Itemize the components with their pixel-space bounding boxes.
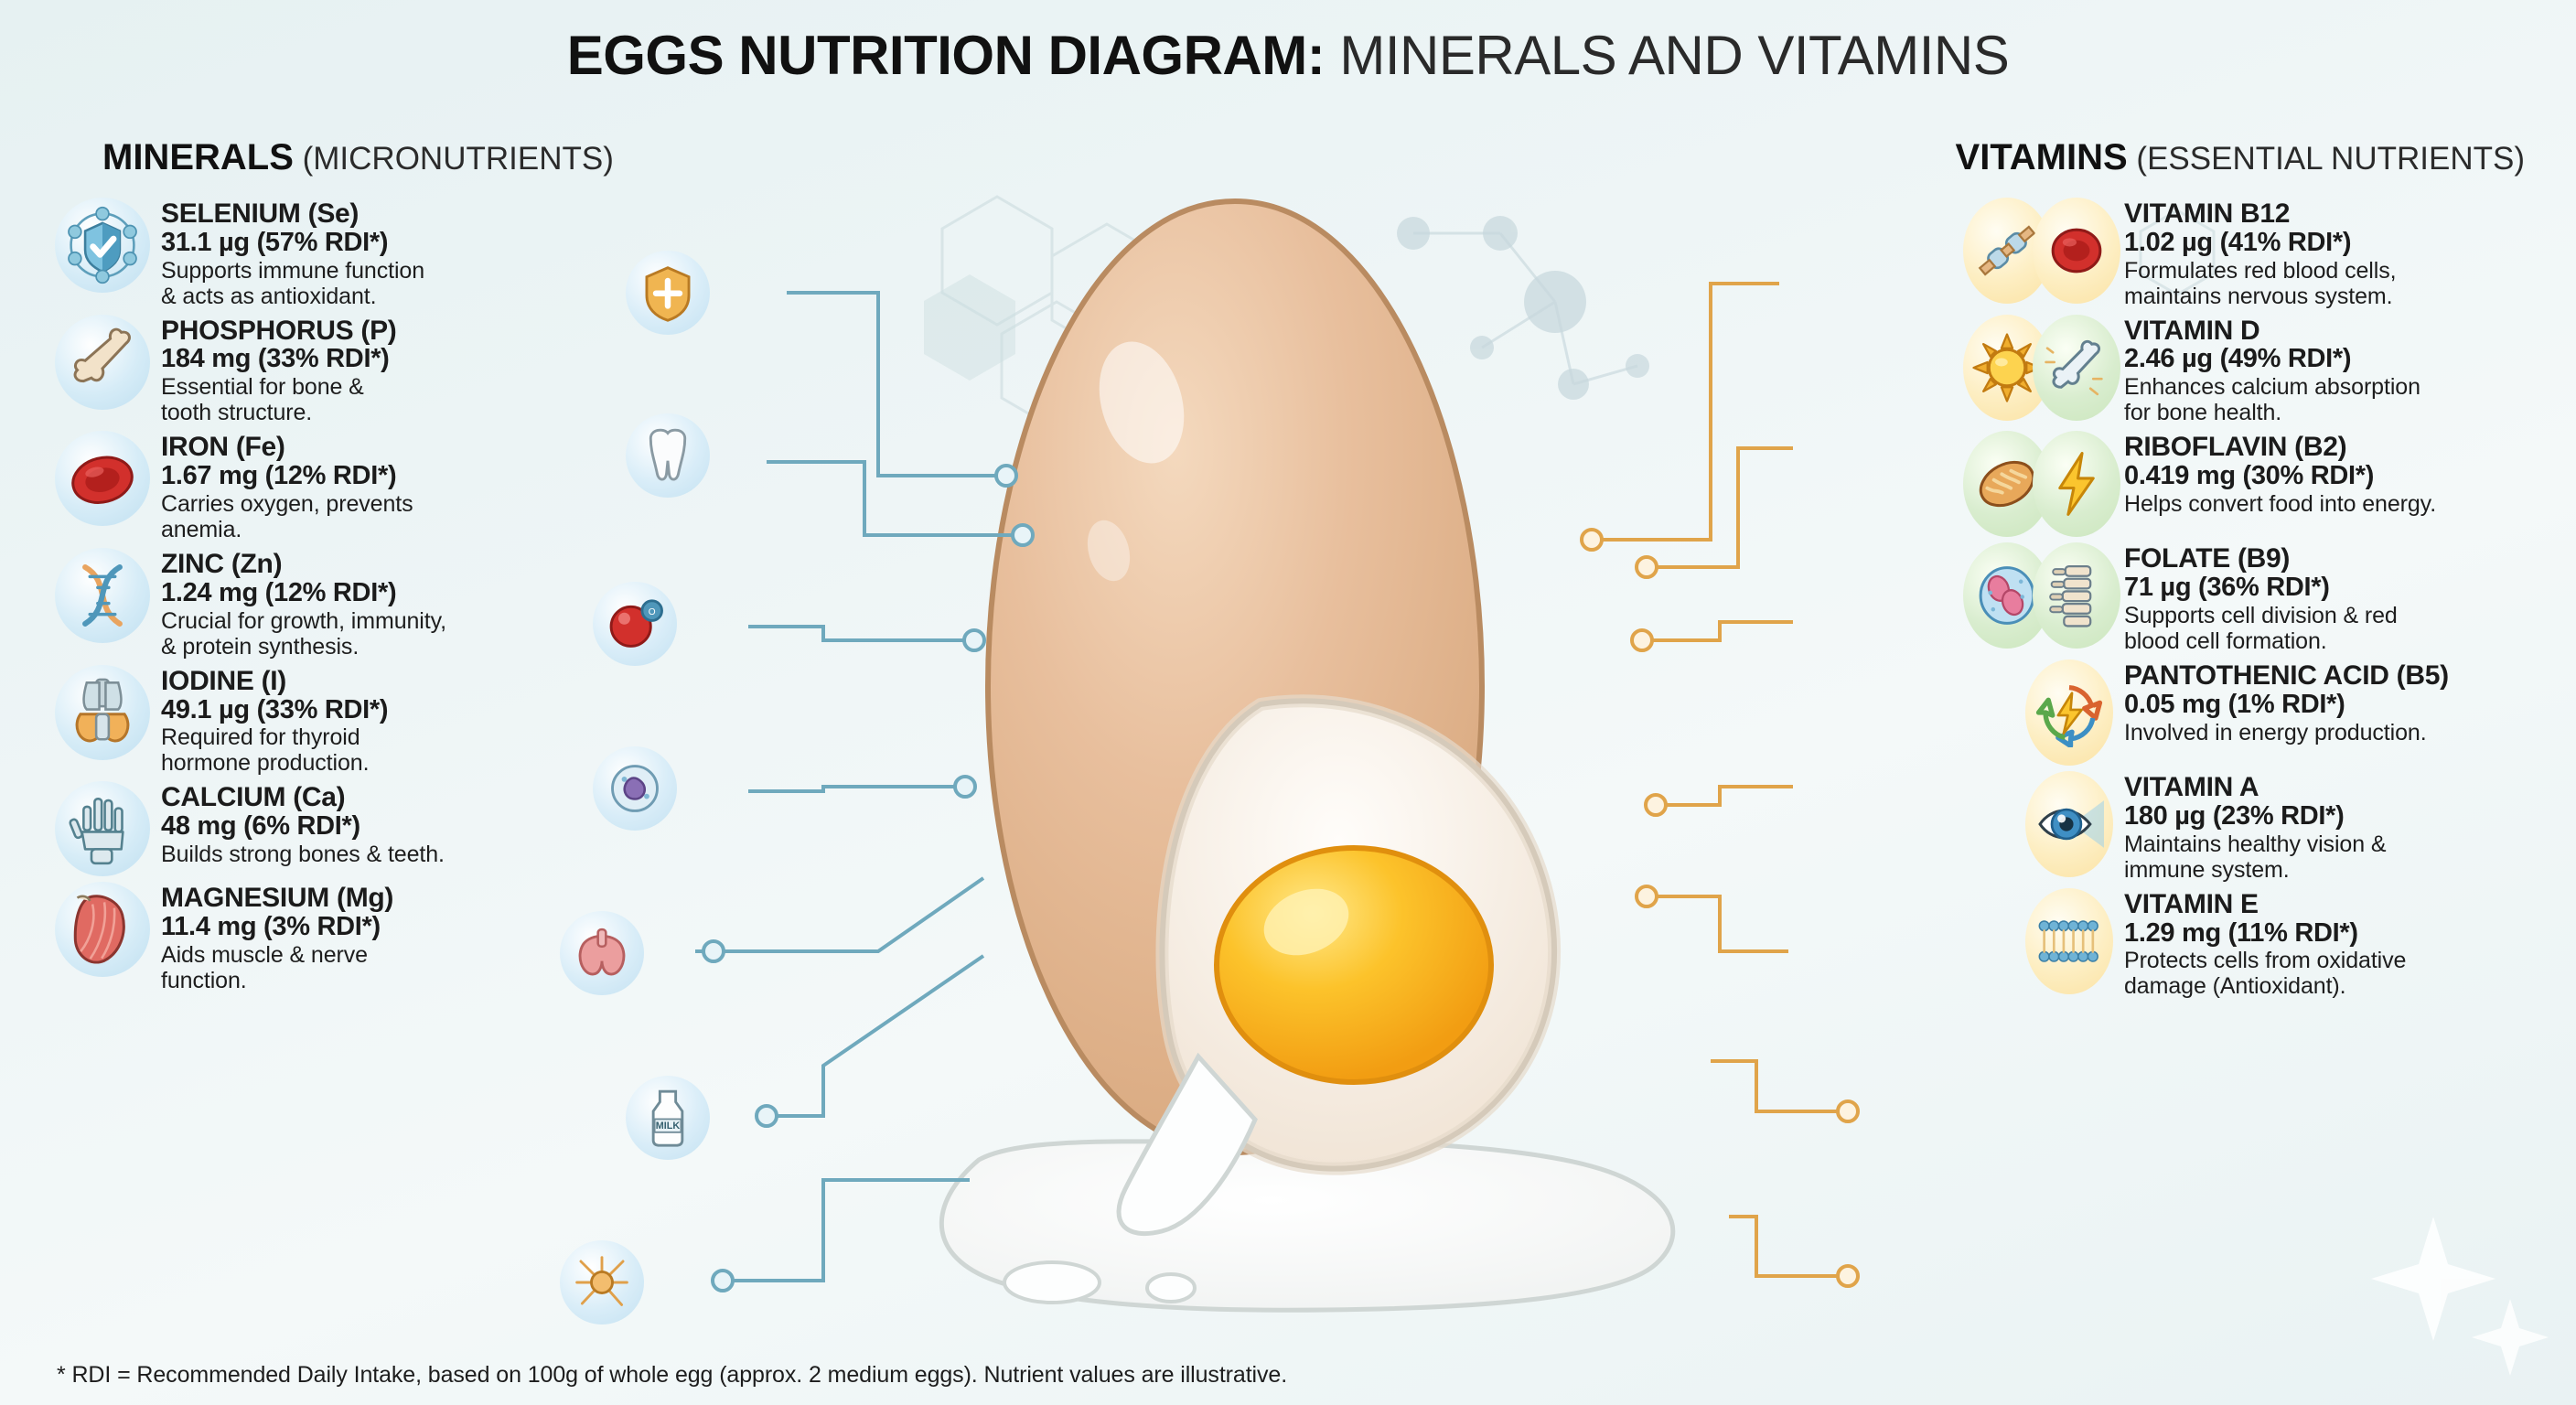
list-item[interactable]: ZINC (Zn) 1.24 mg (12% RDI*) Crucial for… bbox=[55, 548, 640, 660]
nutrient-value: 1.67 mg (12% RDI*) bbox=[161, 462, 640, 491]
nutrient-name: SELENIUM (Se) bbox=[161, 199, 640, 229]
list-item[interactable]: IODINE (I) 49.1 µg (33% RDI*) Required f… bbox=[55, 665, 640, 777]
nutrient-value: 1.02 µg (41% RDI*) bbox=[2124, 229, 2549, 258]
list-item[interactable]: MAGNESIUM (Mg) 11.4 mg (3% RDI*) Aids mu… bbox=[55, 882, 640, 993]
nutrient-desc-2: tooth structure. bbox=[161, 400, 640, 425]
muscle-icon bbox=[55, 882, 150, 977]
nutrient-desc-2: & acts as antioxidant. bbox=[161, 284, 640, 309]
nutrient-value: 11.4 mg (3% RDI*) bbox=[161, 913, 640, 942]
dna-helix-icon bbox=[55, 548, 150, 643]
nutrient-name: IODINE (I) bbox=[161, 667, 640, 696]
footer-note: * RDI = Recommended Daily Intake, based … bbox=[57, 1362, 1287, 1389]
vitamin-d-icons bbox=[1963, 315, 2113, 421]
riboflavin-icons bbox=[1963, 431, 2113, 537]
nutrient-name: PHOSPHORUS (P) bbox=[161, 316, 640, 346]
nutrient-name: RIBOFLAVIN (B2) bbox=[2124, 433, 2549, 462]
lightning-bolt-icon bbox=[2033, 431, 2120, 537]
nutrient-value: 180 µg (23% RDI*) bbox=[2124, 802, 2549, 831]
nutrient-value: 2.46 µg (49% RDI*) bbox=[2124, 345, 2549, 374]
nutrient-name: VITAMIN B12 bbox=[2124, 199, 2549, 229]
nutrient-name: ZINC (Zn) bbox=[161, 550, 640, 579]
nutrient-desc-2: for bone health. bbox=[2124, 400, 2549, 425]
red-blood-cell-icon bbox=[2033, 198, 2120, 304]
list-item[interactable]: PHOSPHORUS (P) 184 mg (33% RDI*) Essenti… bbox=[55, 315, 640, 426]
energy-cycle-icon bbox=[2025, 660, 2113, 766]
nutrient-name: MAGNESIUM (Mg) bbox=[161, 884, 640, 913]
nutrient-value: 49.1 µg (33% RDI*) bbox=[161, 696, 640, 725]
nutrient-value: 31.1 µg (57% RDI*) bbox=[161, 229, 640, 258]
nutrient-desc-2: & protein synthesis. bbox=[161, 634, 640, 660]
shield-check-atom-icon bbox=[55, 198, 150, 293]
spine-icon bbox=[2033, 542, 2120, 649]
nutrient-desc-1: Helps convert food into energy. bbox=[2124, 491, 2549, 517]
egg-illustration bbox=[896, 137, 1720, 1354]
red-blood-cell-icon bbox=[55, 431, 150, 526]
nutrient-desc-1: Crucial for growth, immunity, bbox=[161, 608, 640, 634]
nutrient-name: IRON (Fe) bbox=[161, 433, 640, 462]
nutrient-desc-2: immune system. bbox=[2124, 857, 2549, 883]
nutrient-desc-2: blood cell formation. bbox=[2124, 628, 2549, 654]
list-item[interactable]: VITAMIN D 2.46 µg (49% RDI*) Enhances ca… bbox=[1963, 315, 2549, 426]
nutrient-desc-1: Involved in energy production. bbox=[2124, 720, 2549, 745]
list-item[interactable]: CALCIUM (Ca) 48 mg (6% RDI*) Builds stro… bbox=[55, 781, 640, 876]
nutrient-name: VITAMIN E bbox=[2124, 890, 2549, 919]
nutrient-desc-1: Builds strong bones & teeth. bbox=[161, 842, 640, 867]
list-item[interactable]: VITAMIN A 180 µg (23% RDI*) Maintains he… bbox=[1963, 771, 2549, 883]
nutrient-value: 1.24 mg (12% RDI*) bbox=[161, 579, 640, 608]
nutrient-value: 184 mg (33% RDI*) bbox=[161, 345, 640, 374]
vitamin-b12-icons bbox=[1963, 198, 2113, 304]
nutrient-desc-1: Essential for bone & bbox=[161, 374, 640, 400]
neuron-icon[interactable] bbox=[560, 1240, 644, 1325]
svg-text:O: O bbox=[649, 607, 656, 617]
nutrient-name: CALCIUM (Ca) bbox=[161, 783, 640, 812]
vitamins-heading-light: (ESSENTIAL NUTRIENTS) bbox=[2128, 141, 2525, 177]
milk-bottle-icon[interactable]: MILK bbox=[626, 1076, 710, 1160]
minerals-heading-bold: MINERALS bbox=[102, 137, 294, 177]
nutrient-desc-1: Aids muscle & nerve bbox=[161, 942, 640, 968]
minerals-heading-light: (MICRONUTRIENTS) bbox=[294, 141, 614, 177]
title-bold: EGGS NUTRITION DIAGRAM: bbox=[567, 25, 1325, 86]
nutrient-value: 71 µg (36% RDI*) bbox=[2124, 574, 2549, 603]
nutrient-value: 48 mg (6% RDI*) bbox=[161, 812, 640, 842]
nutrient-desc-2: damage (Antioxidant). bbox=[2124, 973, 2549, 999]
vitamins-section-heading: VITAMINS (ESSENTIAL NUTRIENTS) bbox=[1956, 137, 2525, 178]
list-item[interactable]: PANTOTHENIC ACID (B5) 0.05 mg (1% RDI*) … bbox=[1963, 660, 2549, 766]
nutrient-name: FOLATE (B9) bbox=[2124, 544, 2549, 574]
list-item[interactable]: IRON (Fe) 1.67 mg (12% RDI*) Carries oxy… bbox=[55, 431, 640, 542]
svg-text:MILK: MILK bbox=[656, 1121, 681, 1132]
vitamin-a-icons bbox=[1963, 771, 2113, 877]
page-title: EGGS NUTRITION DIAGRAM: MINERALS AND VIT… bbox=[0, 24, 2576, 87]
nutrient-name: PANTOTHENIC ACID (B5) bbox=[2124, 661, 2549, 691]
vitamin-e-icons bbox=[1963, 888, 2113, 994]
hand-xray-icon bbox=[55, 781, 150, 876]
bone-icon bbox=[55, 315, 150, 410]
nutrient-value: 0.419 mg (30% RDI*) bbox=[2124, 462, 2549, 491]
nutrient-name: VITAMIN D bbox=[2124, 316, 2549, 346]
nutrient-value: 1.29 mg (11% RDI*) bbox=[2124, 919, 2549, 949]
nutrient-value: 0.05 mg (1% RDI*) bbox=[2124, 691, 2549, 720]
eye-icon bbox=[2025, 771, 2113, 877]
minerals-section-heading: MINERALS (MICRONUTRIENTS) bbox=[102, 137, 614, 178]
list-item[interactable]: SELENIUM (Se) 31.1 µg (57% RDI*) Support… bbox=[55, 198, 640, 309]
nutrient-desc-2: hormone production. bbox=[161, 750, 640, 776]
nutrient-desc-1: Maintains healthy vision & bbox=[2124, 831, 2549, 857]
title-light: MINERALS AND VITAMINS bbox=[1325, 25, 2009, 86]
nutrient-desc-1: Formulates red blood cells, bbox=[2124, 258, 2549, 284]
nutrient-desc-1: Enhances calcium absorption bbox=[2124, 374, 2549, 400]
nutrient-desc-2: anemia. bbox=[161, 517, 640, 542]
nutrient-desc-2: maintains nervous system. bbox=[2124, 284, 2549, 309]
nutrient-desc-2: function. bbox=[161, 968, 640, 993]
list-item[interactable]: VITAMIN E 1.29 mg (11% RDI*) Protects ce… bbox=[1963, 888, 2549, 1000]
pantothenic-acid-icons bbox=[1963, 660, 2113, 766]
nutrient-desc-1: Required for thyroid bbox=[161, 724, 640, 750]
nutrient-desc-1: Supports cell division & red bbox=[2124, 603, 2549, 628]
nutrient-desc-1: Protects cells from oxidative bbox=[2124, 948, 2549, 973]
list-item[interactable]: RIBOFLAVIN (B2) 0.419 mg (30% RDI*) Help… bbox=[1963, 431, 2549, 537]
vitamins-list: VITAMIN B12 1.02 µg (41% RDI*) Formulate… bbox=[1963, 198, 2549, 1004]
lipid-membrane-icon bbox=[2025, 888, 2113, 994]
list-item[interactable]: VITAMIN B12 1.02 µg (41% RDI*) Formulate… bbox=[1963, 198, 2549, 309]
thyroid-gland-icon bbox=[55, 665, 150, 760]
list-item[interactable]: FOLATE (B9) 71 µg (36% RDI*) Supports ce… bbox=[1963, 542, 2549, 654]
folate-icons bbox=[1963, 542, 2113, 649]
nutrient-name: VITAMIN A bbox=[2124, 773, 2549, 802]
vitamins-heading-bold: VITAMINS bbox=[1956, 137, 2128, 177]
minerals-list: SELENIUM (Se) 31.1 µg (57% RDI*) Support… bbox=[55, 198, 640, 999]
bone-shine-icon bbox=[2033, 315, 2120, 421]
nutrient-desc-1: Supports immune function bbox=[161, 258, 640, 284]
nutrient-desc-1: Carries oxygen, prevents bbox=[161, 491, 640, 517]
